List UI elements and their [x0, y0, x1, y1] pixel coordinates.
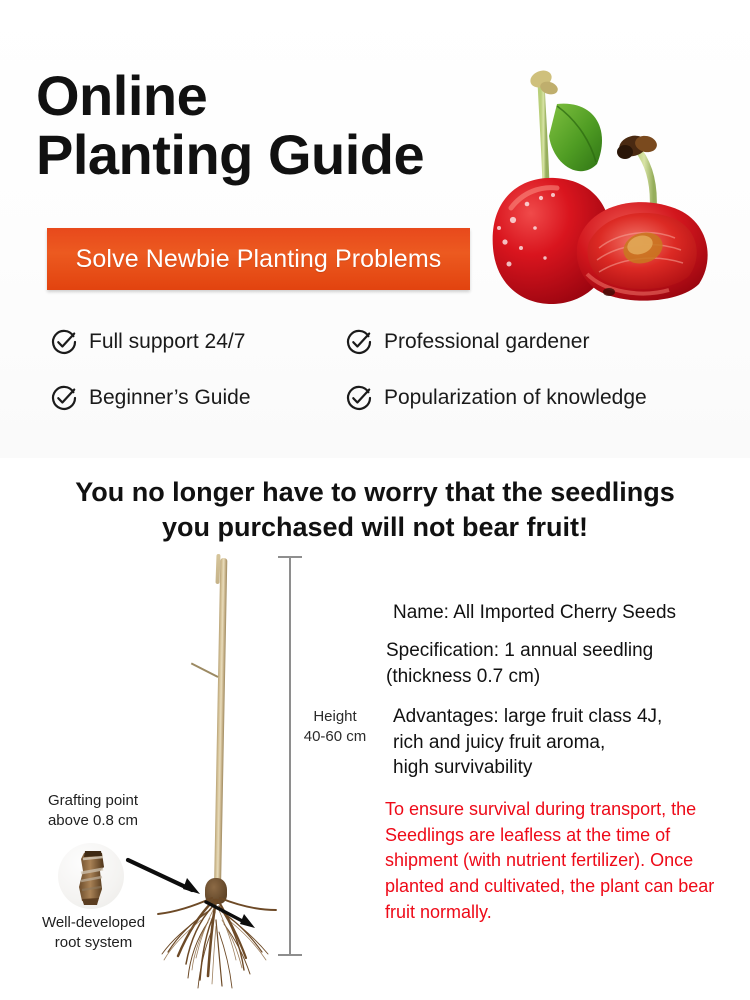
product-name: Name: All Imported Cherry Seeds — [380, 600, 748, 625]
banner: Solve Newbie Planting Problems — [47, 228, 470, 290]
root-label-line-2: root system — [16, 933, 171, 953]
product-specification: Specification: 1 annual seedling (thickn… — [380, 638, 748, 689]
advantages-line-1: Advantages: large fruit class 4J, — [393, 706, 662, 727]
subheadline-line-1: You no longer have to worry that the see… — [0, 475, 750, 510]
annotation-arrow-main — [128, 860, 200, 894]
root-label-line-1: Well-developed — [16, 913, 171, 933]
cherry-image — [483, 52, 745, 307]
infographic-page: Online Planting Guide — [0, 0, 750, 1000]
feature-list: Full support 24/7 Professional gardener — [50, 328, 710, 440]
feature-row: Beginner’s Guide Popularization of knowl… — [50, 384, 710, 412]
grafting-label-line-2: above 0.8 cm — [18, 811, 168, 831]
grafting-point-photo — [58, 843, 124, 909]
height-label-line-1: Height — [293, 707, 377, 727]
feature-item-professional-gardener: Professional gardener — [345, 328, 589, 356]
feature-label: Professional gardener — [384, 330, 589, 354]
height-label: Height 40-60 cm — [293, 707, 377, 747]
subheadline: You no longer have to worry that the see… — [0, 475, 750, 544]
specification-line-1: Specification: 1 annual seedling — [386, 640, 653, 661]
page-title: Online Planting Guide — [36, 66, 424, 185]
specification-line-2: (thickness 0.7 cm) — [386, 666, 540, 687]
subheadline-line-2: you purchased will not bear fruit! — [0, 510, 750, 545]
feature-label: Full support 24/7 — [89, 330, 245, 354]
product-info: Name: All Imported Cherry Seeds Specific… — [380, 600, 748, 781]
height-measure-line — [289, 556, 291, 956]
title-line-2: Planting Guide — [36, 125, 424, 184]
product-advantages: Advantages: large fruit class 4J, rich a… — [380, 704, 748, 780]
height-measure-cap-top — [278, 556, 302, 558]
shipping-notice: To ensure survival during transport, the… — [385, 797, 737, 926]
feature-row: Full support 24/7 Professional gardener — [50, 328, 710, 356]
grafting-label-line-1: Grafting point — [18, 791, 168, 811]
grafting-point-label: Grafting point above 0.8 cm — [18, 791, 168, 831]
advantages-line-2: rich and juicy fruit aroma, — [393, 732, 605, 753]
height-measure-cap-bottom — [278, 954, 302, 956]
banner-text: Solve Newbie Planting Problems — [76, 245, 442, 274]
feature-label: Popularization of knowledge — [384, 386, 647, 410]
check-circle-icon — [50, 384, 78, 412]
advantages-line-3: high survivability — [393, 757, 532, 778]
height-label-line-2: 40-60 cm — [293, 727, 377, 747]
check-circle-icon — [345, 384, 373, 412]
title-line-1: Online — [36, 66, 424, 125]
feature-label: Beginner’s Guide — [89, 386, 251, 410]
check-circle-icon — [345, 328, 373, 356]
feature-item-full-support: Full support 24/7 — [50, 328, 345, 356]
root-system-label: Well-developed root system — [16, 913, 171, 953]
feature-item-popularization: Popularization of knowledge — [345, 384, 647, 412]
check-circle-icon — [50, 328, 78, 356]
feature-item-beginners-guide: Beginner’s Guide — [50, 384, 345, 412]
